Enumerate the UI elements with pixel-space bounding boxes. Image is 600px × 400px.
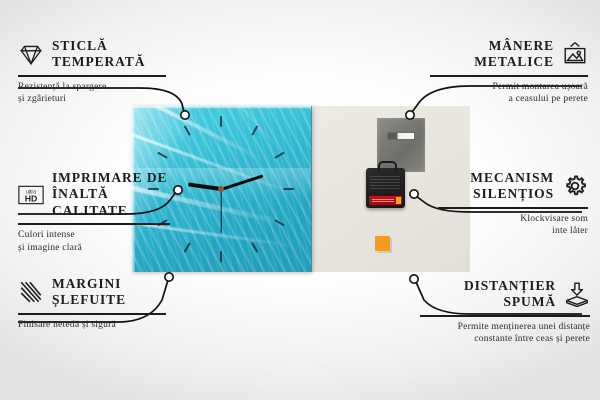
clock-tick [220, 251, 222, 262]
battery [369, 196, 402, 205]
picture-frame-hanger-icon [562, 41, 588, 67]
infographic-stage: STICLĂ TEMPERATĂ Rezistență la spargere … [0, 0, 600, 400]
feature-polished-edges: MARGINI ȘLEFUITE Finisare netedă și sigu… [18, 276, 166, 331]
feature-title: MARGINI ȘLEFUITE [52, 276, 126, 309]
feature-header: MECANISM SILENȚIOS [438, 170, 588, 203]
feature-header: DISTANȚIER SPUMĂ [420, 278, 590, 311]
hanger-slot [387, 132, 415, 140]
feature-title-line2: SILENȚIOS [470, 186, 554, 202]
feature-title-line2: SPUMĂ [464, 294, 556, 310]
feature-title-line1: IMPRIMARE DE [52, 170, 170, 186]
connector-dot-foam [410, 275, 418, 283]
feature-sub-line1: Rezistență la spargere [18, 81, 166, 94]
feature-divider [438, 207, 588, 209]
clock-tick [274, 152, 285, 159]
feature-sub-line2: inte låter [438, 225, 588, 238]
feature-sub-line2: constante între ceas și perete [420, 333, 590, 346]
feature-sub-line2: și imagine clară [18, 242, 170, 255]
feature-title-line2: TEMPERATĂ [52, 54, 145, 70]
feature-header: STICLĂ TEMPERATĂ [18, 38, 166, 71]
second-hand [220, 189, 221, 233]
feature-title-line2: METALICE [474, 54, 554, 70]
feature-sub-line1: Klockvisare som [438, 213, 588, 226]
feature-title-line2: ȘLEFUITE [52, 292, 126, 308]
feature-divider [18, 223, 170, 225]
feature-title-line1: STICLĂ [52, 38, 145, 54]
clock-tick [184, 242, 191, 253]
clock-mechanism-photo [366, 168, 405, 208]
feature-sub-line1: Finisare netedă și sigură [18, 319, 166, 332]
feature-divider [420, 315, 590, 317]
feature-title: DISTANȚIER SPUMĂ [464, 278, 556, 311]
feature-title: MECANISM SILENȚIOS [470, 170, 554, 203]
feature-subtitle: Finisare netedă și sigură [18, 319, 166, 332]
gear-icon [562, 173, 588, 199]
clock-tick [283, 188, 294, 190]
foam-spacer-photo [375, 236, 390, 251]
feature-subtitle: Permit montarea ușoară a ceasului pe per… [430, 81, 588, 106]
feature-metal-hangers: MÂNERE METALICE Permit montarea ușoară a… [430, 38, 588, 106]
feature-header: MÂNERE METALICE [430, 38, 588, 71]
feature-sub-line1: Permit montarea ușoară [430, 81, 588, 94]
feature-title-line1: DISTANȚIER [464, 278, 556, 294]
feature-title-line1: MÂNERE [474, 38, 554, 54]
hour-hand [188, 182, 221, 191]
clock-tick [251, 125, 258, 136]
minute-hand [221, 174, 264, 190]
feature-foam-spacer: DISTANȚIER SPUMĂ Permite menținerea unei… [420, 278, 590, 346]
feature-subtitle: Rezistență la spargere și zgârieturi [18, 81, 166, 106]
feature-silent-mechanism: MECANISM SILENȚIOS Klockvisare som inte … [438, 170, 588, 238]
feature-header: MARGINI ȘLEFUITE [18, 276, 166, 309]
press-down-arrow-icon [564, 281, 590, 307]
feature-sub-line1: Permite menținerea unei distanțe [420, 321, 590, 334]
feature-subtitle: Klockvisare som inte låter [438, 213, 588, 238]
clock-tick [251, 242, 258, 253]
feature-subtitle: Permite menținerea unei distanțe constan… [420, 321, 590, 346]
feature-header: ultra HD IMPRIMARE DE ÎNALTĂ CALITATE [18, 170, 170, 219]
feature-sub-line1: Culori intense [18, 229, 170, 242]
feature-title-line2: ÎNALTĂ CALITATE [52, 186, 170, 219]
feature-divider [430, 75, 588, 77]
feature-title-line1: MARGINI [52, 276, 126, 292]
clock-tick [274, 219, 285, 226]
connector-dot-edges [165, 273, 173, 281]
clock-hub [218, 186, 224, 192]
feature-title-line1: MECANISM [470, 170, 554, 186]
feature-tempered-glass: STICLĂ TEMPERATĂ Rezistență la spargere … [18, 38, 166, 106]
clock-tick [184, 125, 191, 136]
feature-title: IMPRIMARE DE ÎNALTĂ CALITATE [52, 170, 170, 219]
mechanism-hook [378, 161, 397, 172]
clock-tick [157, 152, 168, 159]
product-photo [131, 106, 470, 272]
feature-divider [18, 313, 166, 315]
feature-sub-line2: a ceasului pe perete [430, 93, 588, 106]
diagonal-lines-icon [18, 279, 44, 305]
mechanism-label [370, 175, 400, 189]
ultra-hd-icon: ultra HD [18, 182, 44, 208]
feature-sub-line2: și zgârieturi [18, 93, 166, 106]
clock-tick [220, 116, 222, 127]
feature-high-quality-print: ultra HD IMPRIMARE DE ÎNALTĂ CALITATE Cu… [18, 170, 170, 254]
feature-subtitle: Culori intense și imagine clară [18, 229, 170, 254]
feature-title: STICLĂ TEMPERATĂ [52, 38, 145, 71]
ultra-hd-icon-bottom-text: HD [25, 193, 38, 203]
battery-label [372, 198, 394, 202]
feature-title: MÂNERE METALICE [474, 38, 554, 71]
feature-divider [18, 75, 166, 77]
diamond-icon [18, 41, 44, 67]
